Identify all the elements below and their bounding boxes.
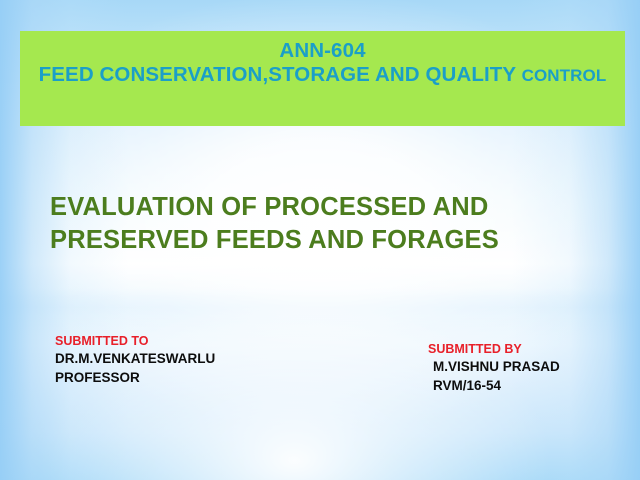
submitted-to-name: DR.M.VENKATESWARLU bbox=[55, 350, 215, 369]
page-title-line-2: PRESERVED FEEDS AND FORAGES bbox=[50, 224, 570, 257]
submitted-by-label: SUBMITTED BY bbox=[428, 340, 560, 358]
submitted-to-designation: PROFESSOR bbox=[55, 369, 215, 388]
course-title-main-text: FEED CONSERVATION,STORAGE AND QUALITY bbox=[39, 63, 522, 86]
submitted-by-name: M.VISHNU PRASAD bbox=[428, 358, 560, 377]
presentation-slide: ANN-604 FEED CONSERVATION,STORAGE AND QU… bbox=[0, 0, 640, 480]
submitted-by-block: SUBMITTED BY M.VISHNU PRASAD RVM/16-54 bbox=[428, 340, 560, 396]
submitted-by-roll-number: RVM/16-54 bbox=[428, 377, 560, 396]
submitted-to-label: SUBMITTED TO bbox=[55, 332, 215, 350]
page-title: EVALUATION OF PROCESSED AND PRESERVED FE… bbox=[50, 191, 570, 257]
page-title-line-1: EVALUATION OF PROCESSED AND bbox=[50, 191, 570, 224]
course-title-tail-text: CONTROL bbox=[522, 66, 607, 85]
course-title-banner: ANN-604 FEED CONSERVATION,STORAGE AND QU… bbox=[20, 31, 625, 126]
course-title-text: FEED CONSERVATION,STORAGE AND QUALITY CO… bbox=[39, 63, 607, 87]
course-code-text: ANN-604 bbox=[279, 39, 365, 63]
submitted-to-block: SUBMITTED TO DR.M.VENKATESWARLU PROFESSO… bbox=[55, 332, 215, 388]
